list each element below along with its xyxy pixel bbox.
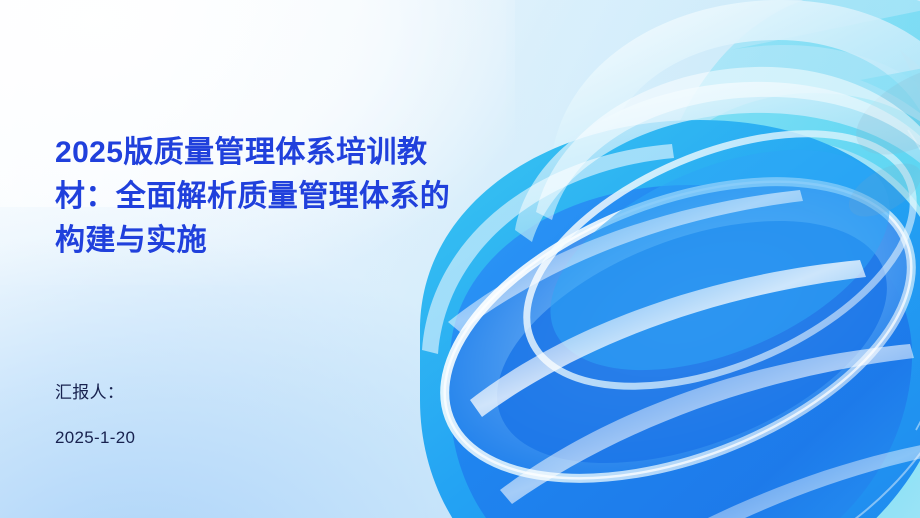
presenter-label: 汇报人：: [55, 370, 135, 415]
background-glow-bottom-right: [515, 197, 920, 518]
slide-title: 2025版质量管理体系培训教材：全面解析质量管理体系的构建与实施: [55, 131, 475, 263]
slide-meta: 汇报人： 2025-1-20: [55, 370, 135, 460]
slide-date: 2025-1-20: [55, 415, 135, 460]
title-slide: 2025版质量管理体系培训教材：全面解析质量管理体系的构建与实施 汇报人： 20…: [0, 0, 920, 518]
